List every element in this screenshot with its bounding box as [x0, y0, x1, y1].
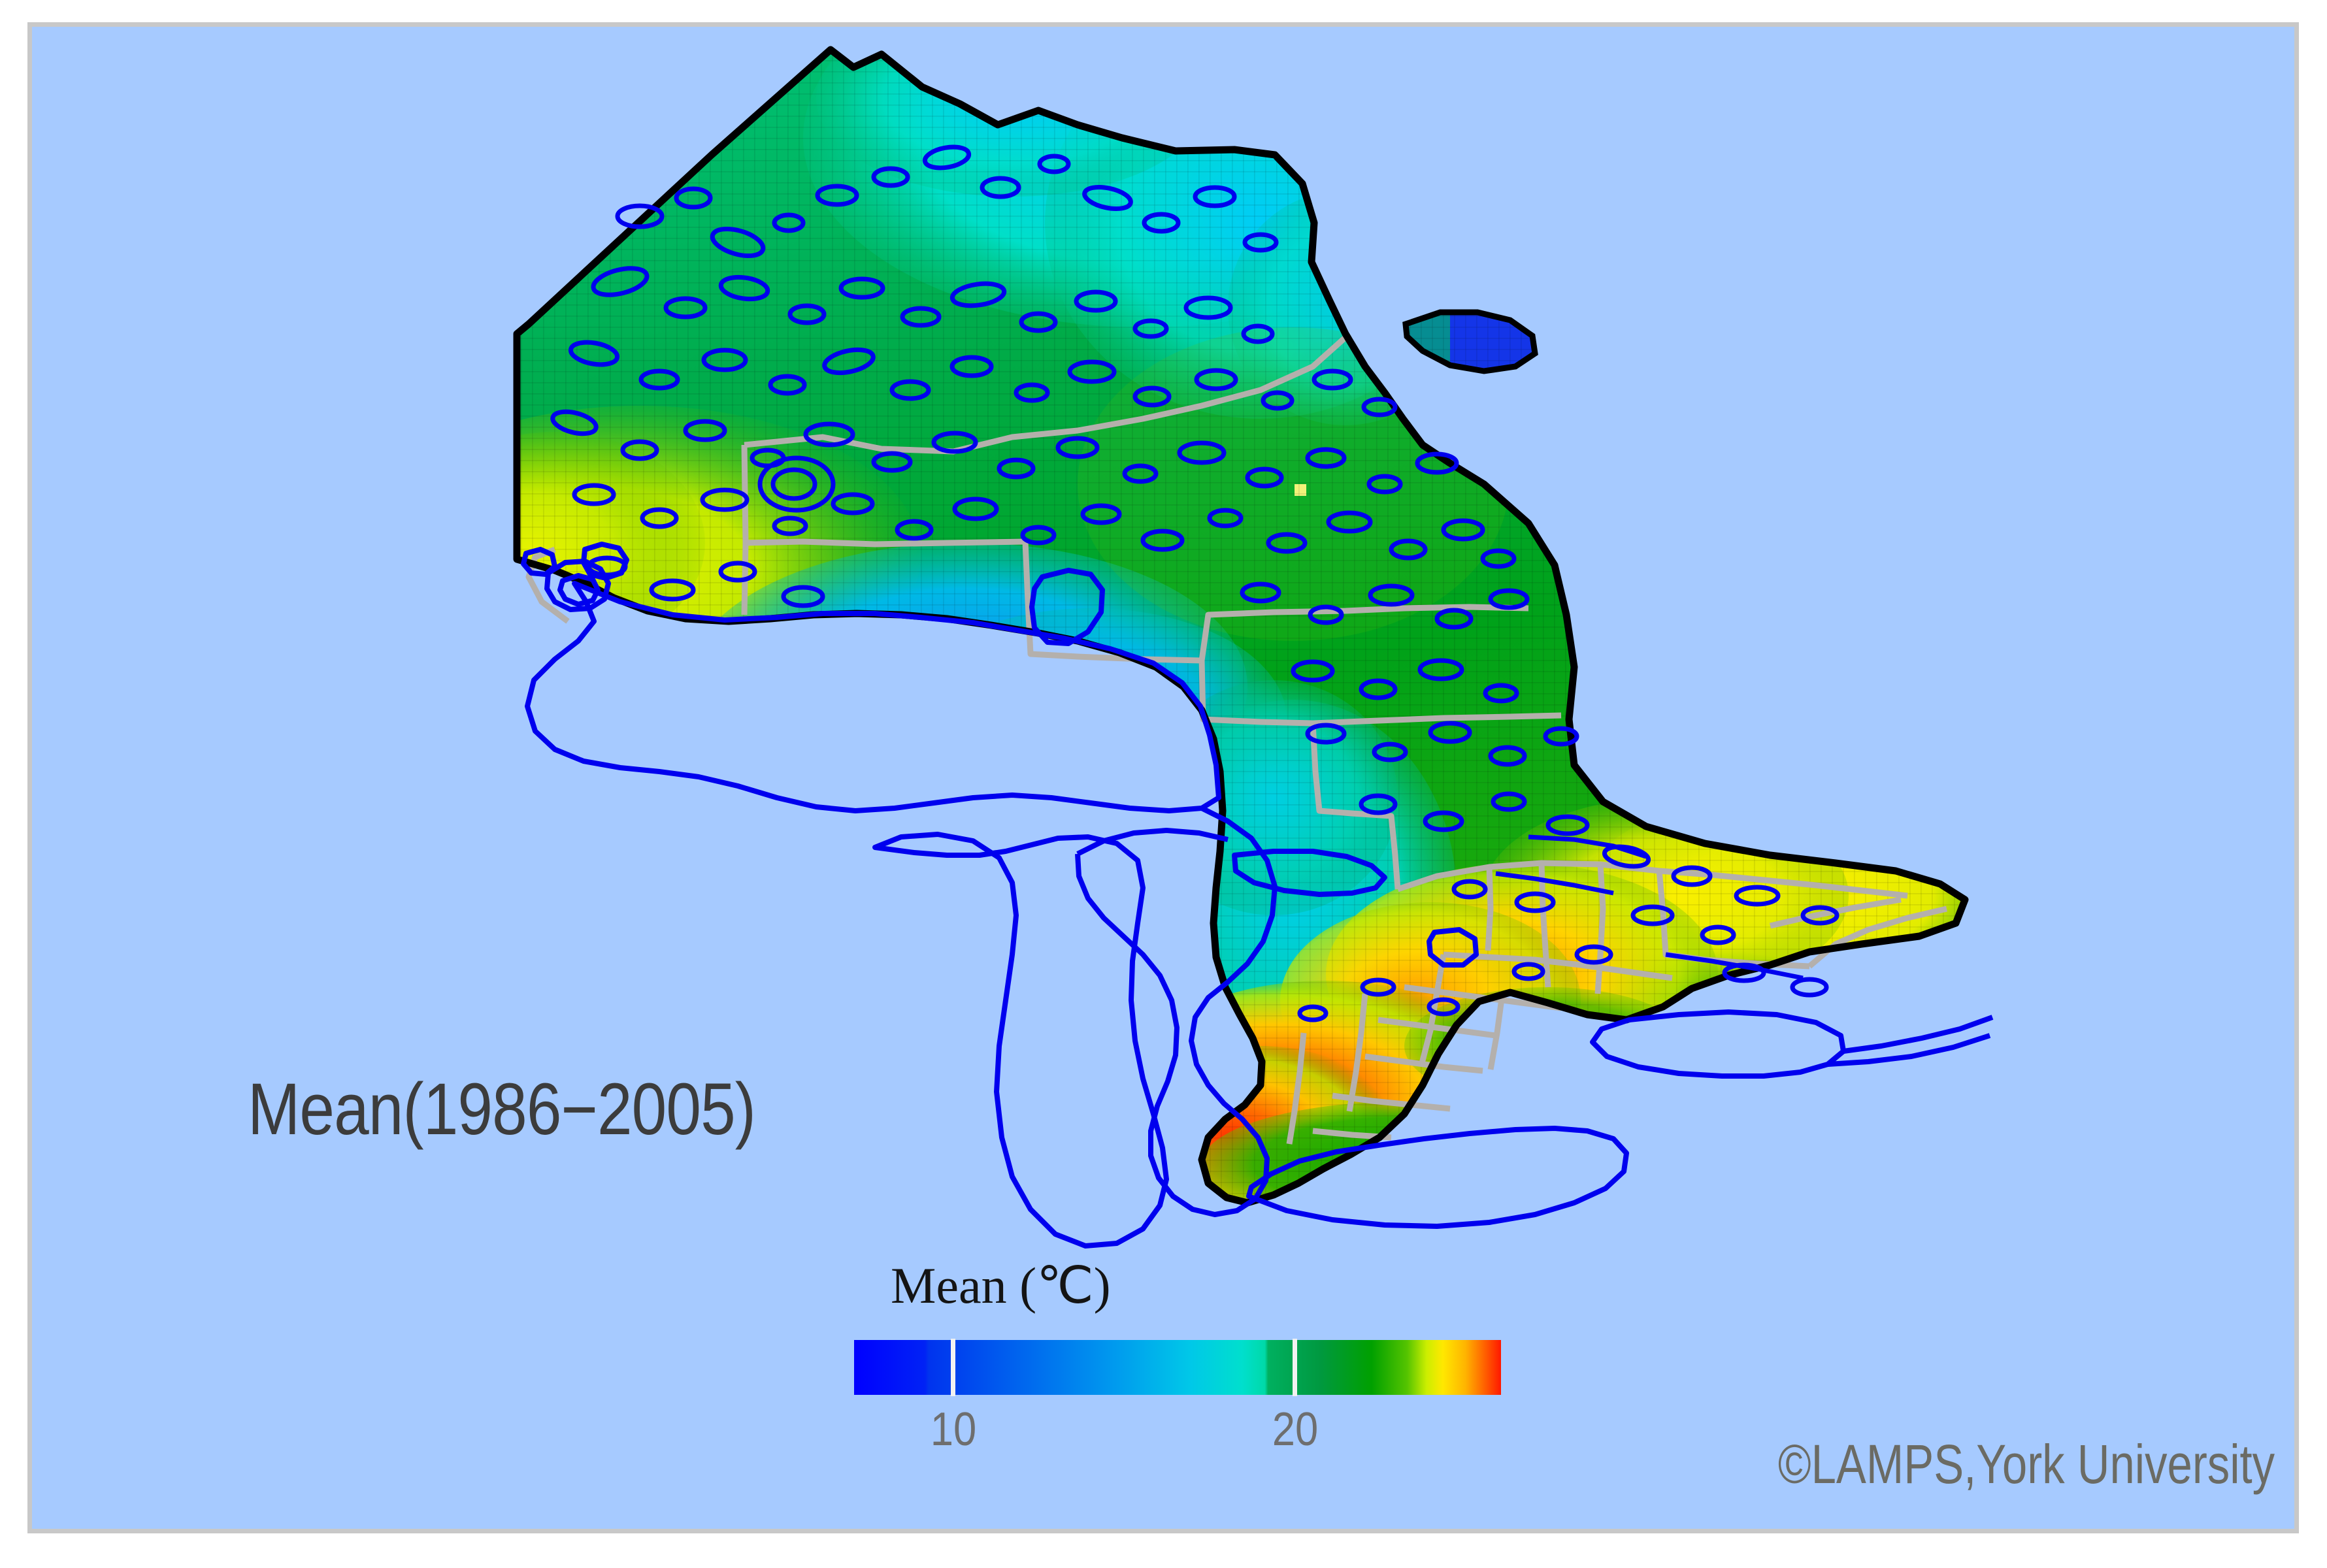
attribution-credit: ©LAMPS,York University — [1778, 1433, 2275, 1496]
colorbar[interactable]: 10 20 — [854, 1340, 1501, 1395]
colorbar-label: Mean (℃) — [891, 1256, 1111, 1315]
colorbar-ticklabel-20: 20 — [1272, 1403, 1318, 1456]
colorbar-tick-10 — [951, 1339, 955, 1396]
figure-panel: Mean(1986−2005) Mean (℃) 10 20 ©LAMPS,Yo… — [27, 22, 2299, 1533]
colorbar-tick-20 — [1293, 1339, 1297, 1396]
colorbar-ticklabel-10: 10 — [931, 1403, 976, 1456]
page-title: Mean(1986−2005) — [248, 1067, 755, 1151]
temperature-raster — [359, 27, 2012, 1229]
